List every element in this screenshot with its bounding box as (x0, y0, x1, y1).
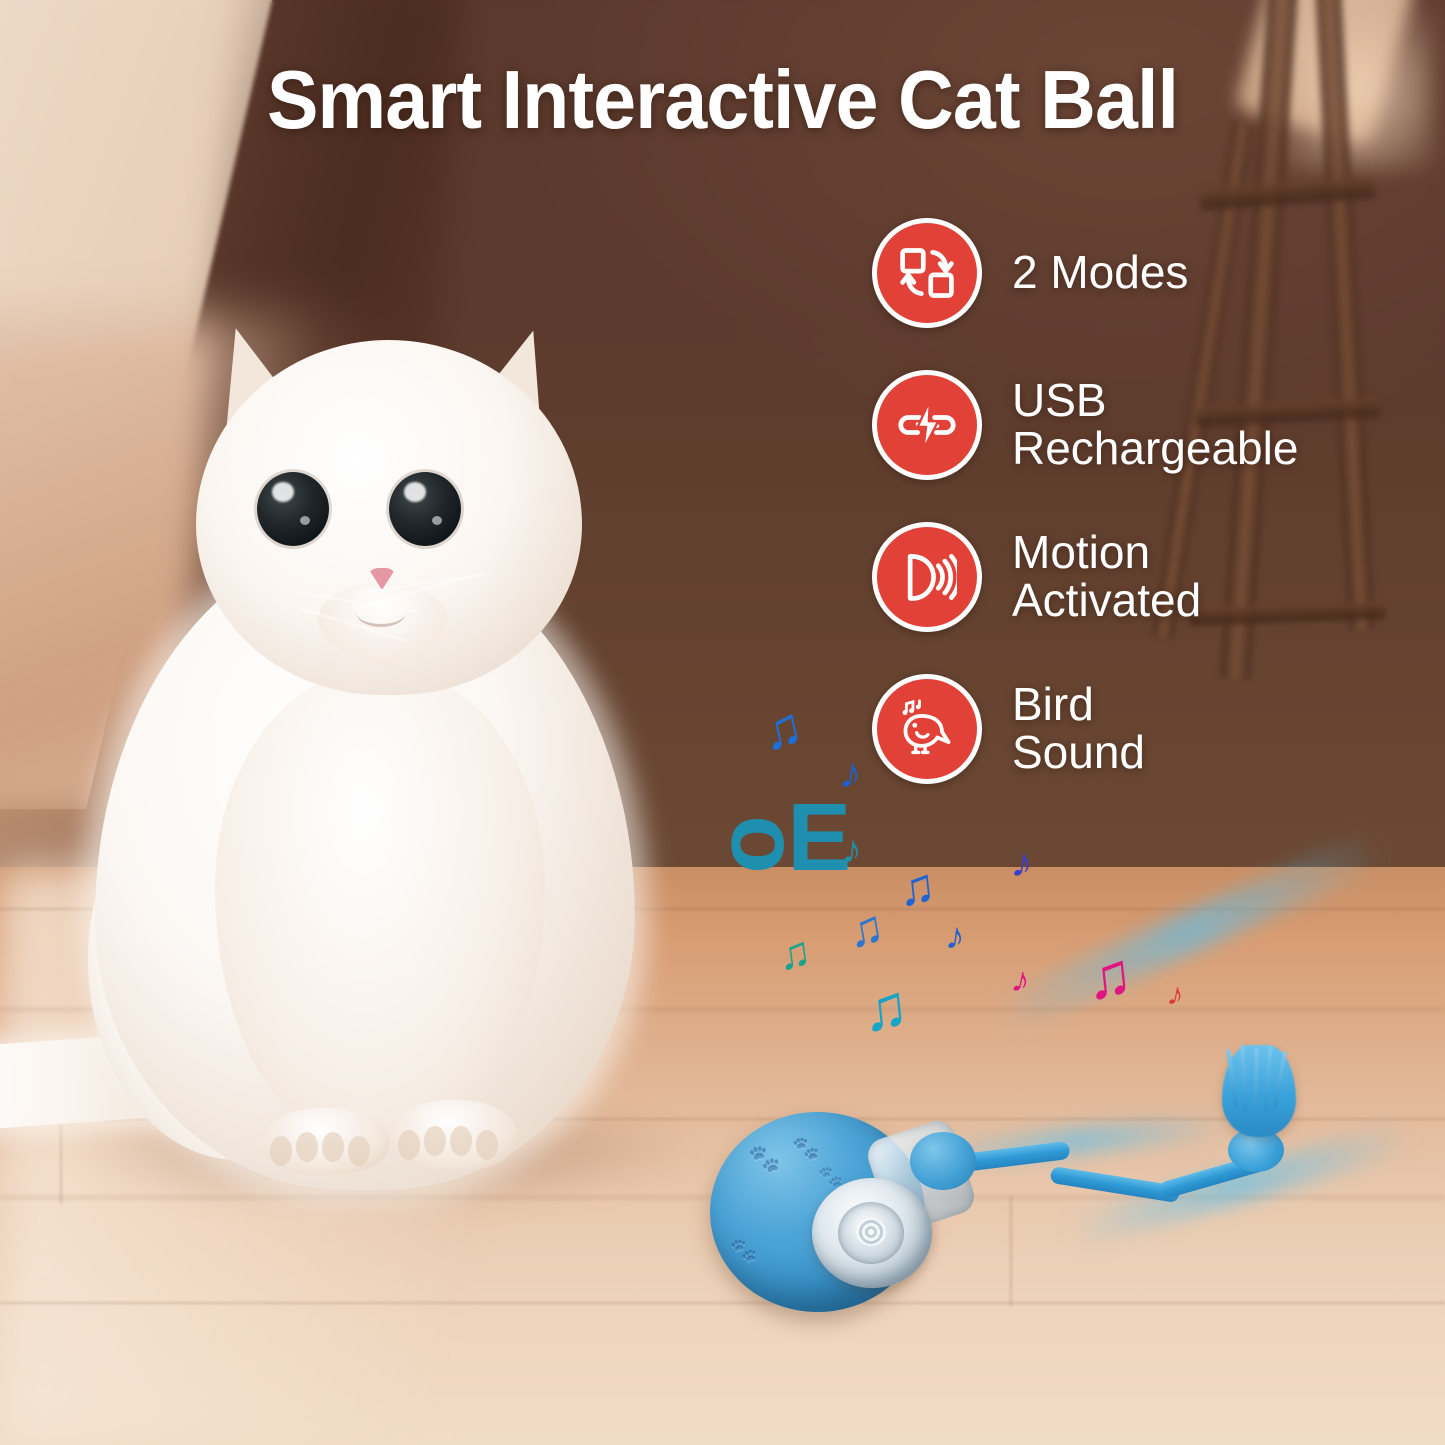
paw-print-emboss: 🐾 (748, 1146, 780, 1172)
music-note: ♪ (840, 829, 864, 871)
cat-photo-subject (0, 330, 760, 1230)
rope-tassel (1222, 1045, 1296, 1137)
cat-eye-right (389, 472, 461, 546)
music-note: ᴑE (728, 790, 851, 886)
cat-eye-left (257, 472, 329, 546)
feature-item-usb-rechargeable: USB Rechargeable (872, 370, 1342, 480)
usb-rechargeable-icon (897, 395, 957, 455)
music-note: ♫ (859, 976, 912, 1043)
feature-label: Bird Sound (1012, 681, 1145, 777)
feature-label: 2 Modes (1012, 249, 1188, 297)
paw-print-emboss: 🐾 (792, 1138, 819, 1160)
cat-front-paw-left (262, 1108, 390, 1174)
cat-eye-highlight (404, 482, 426, 502)
two-modes-icon (897, 243, 957, 303)
cat-eye-highlight (272, 482, 294, 502)
motion-activated-icon-badge (872, 522, 982, 632)
feature-label: Motion Activated (1012, 529, 1201, 625)
product-marketing-image: 🐾 🐾 🐾 🐾 ♫♪ᴑE♪♫♪♫♪♫♫♫♪♪ Smart Interactive… (0, 0, 1445, 1445)
bird-sound-icon (897, 699, 957, 759)
smart-cat-ball-product: 🐾 🐾 🐾 🐾 (700, 1090, 1030, 1340)
ball-rope-knob (910, 1132, 976, 1190)
cat-front-paw-right (390, 1100, 518, 1170)
music-note: ♫ (1083, 944, 1136, 1011)
feature-item-bird-sound: Bird Sound (872, 674, 1342, 784)
bird-sound-icon-badge (872, 674, 982, 784)
page-title: Smart Interactive Cat Ball (51, 52, 1395, 148)
feature-list: 2 Modes USB Rechargeable (872, 218, 1342, 826)
paw-print-emboss: 🐾 (730, 1240, 757, 1262)
feature-item-motion-activated: Motion Activated (872, 522, 1342, 632)
feature-label: USB Rechargeable (1012, 377, 1298, 473)
ball-cap-screw (856, 1218, 886, 1246)
feature-item-2-modes: 2 Modes (872, 218, 1342, 328)
motion-activated-icon (897, 547, 957, 607)
usb-rechargeable-icon-badge (872, 370, 982, 480)
music-note: ♫ (895, 860, 938, 914)
music-note: ♫ (775, 930, 814, 978)
cat-eye-highlight (432, 516, 442, 525)
cat-eye-highlight (300, 516, 310, 525)
paw-print-emboss: 🐾 (818, 1168, 843, 1188)
cat-chest (215, 670, 545, 1140)
two-modes-icon-badge (872, 218, 982, 328)
